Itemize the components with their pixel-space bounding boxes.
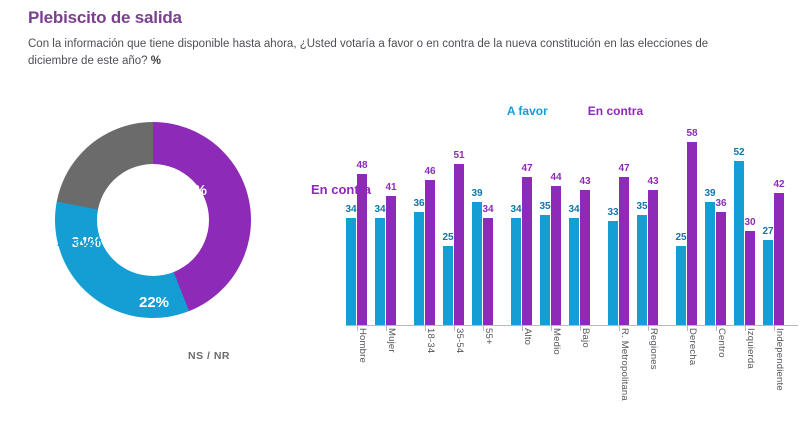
bar-a-favor: 39 (472, 202, 482, 325)
bar-group: 34483441 (346, 136, 397, 325)
bar-a-favor: 52 (734, 161, 744, 325)
bar-value: 34 (510, 204, 521, 215)
bar-a-favor: 35 (637, 215, 647, 325)
bar-value: 34 (374, 204, 385, 215)
bar-a-favor: 33 (608, 221, 618, 325)
x-label-group: R. MetropolitanaRegiones (608, 328, 659, 428)
bar-a-favor: 34 (375, 218, 385, 325)
legend-swatch-en-contra (574, 107, 583, 116)
x-label-group: DerechaCentroIzquierdaIndependiente (676, 328, 785, 428)
bar-a-favor: 25 (443, 246, 453, 325)
bar-value: 47 (521, 163, 532, 174)
bar-category: 3543 (637, 136, 659, 325)
bar-category: 3646 (414, 136, 436, 325)
bar-a-favor: 34 (346, 218, 356, 325)
bar-category: 3447 (511, 136, 533, 325)
bar-value: 34 (568, 204, 579, 215)
bar-value: 27 (762, 226, 773, 237)
bar-category: 3936 (705, 136, 727, 325)
bar-en-contra: 46 (425, 180, 435, 325)
bar-value: 33 (607, 207, 618, 218)
x-axis-labels: HombreMujer18-3435-5455+AltoMedioBajoR. … (346, 328, 798, 428)
bar-a-favor: 25 (676, 246, 686, 325)
bar-value: 25 (675, 232, 686, 243)
bar-value: 41 (385, 182, 396, 193)
x-axis-label: Bajo (569, 328, 591, 428)
bar-value: 35 (539, 201, 550, 212)
bar-value: 39 (704, 188, 715, 199)
bar-value: 48 (356, 160, 367, 171)
bar-group: 364625513934 (414, 136, 494, 325)
bar-value: 39 (471, 188, 482, 199)
bar-value: 43 (579, 176, 590, 187)
bar-en-contra: 44 (551, 186, 561, 325)
x-axis-label: Medio (540, 328, 562, 428)
legend-label-en-contra: En contra (588, 104, 643, 118)
donut-label-ns-nr: NS / NR (188, 350, 230, 362)
bar-chart-plot-area: 3448344136462551393434473544344333473543… (346, 136, 798, 326)
bar-en-contra: 51 (454, 164, 464, 325)
donut-chart: 44% 34% 22% En contra A favor NS / NR (0, 108, 330, 373)
x-axis-label: Independiente (763, 328, 785, 428)
subtitle-unit: % (151, 55, 161, 67)
x-axis-label: Regiones (637, 328, 659, 428)
bar-group: 33473543 (608, 136, 659, 325)
bar-en-contra: 36 (716, 212, 726, 325)
bar-a-favor: 34 (511, 218, 521, 325)
donut-value-en-contra: 44% (177, 182, 207, 199)
x-axis-label: Hombre (346, 328, 368, 428)
bar-a-favor: 34 (569, 218, 579, 325)
bar-en-contra: 47 (522, 177, 532, 325)
legend-item-en-contra: En contra (574, 104, 643, 118)
bar-a-favor: 36 (414, 212, 424, 325)
bar-value: 42 (773, 179, 784, 190)
x-axis-label: Mujer (375, 328, 397, 428)
bar-value: 46 (424, 166, 435, 177)
bar-value: 51 (453, 150, 464, 161)
bar-en-contra: 34 (483, 218, 493, 325)
subtitle-question: Con la información que tiene disponible … (28, 38, 708, 67)
x-label-group: HombreMujer (346, 328, 397, 428)
bar-en-contra: 41 (386, 196, 396, 325)
bar-value: 36 (413, 198, 424, 209)
bar-value: 35 (636, 201, 647, 212)
bar-a-favor: 27 (763, 240, 773, 325)
donut-chart-graphic: 44% 34% 22% En contra A favor NS / NR (55, 122, 251, 318)
bar-group: 2558393652302742 (676, 136, 785, 325)
bar-value: 36 (715, 198, 726, 209)
donut-label-a-favor: A favor (57, 234, 101, 249)
bar-en-contra: 58 (687, 142, 697, 325)
legend-label-a-favor: A favor (507, 104, 548, 118)
bar-value: 34 (345, 204, 356, 215)
x-label-group: 18-3435-5455+ (414, 328, 494, 428)
bar-value: 58 (686, 128, 697, 139)
bar-a-favor: 35 (540, 215, 550, 325)
bar-value: 34 (482, 204, 493, 215)
bar-chart-legend: A favor En contra (336, 100, 800, 122)
bar-en-contra: 43 (648, 190, 658, 325)
bar-en-contra: 43 (580, 190, 590, 325)
bar-en-contra: 30 (745, 231, 755, 326)
x-axis-label: Alto (511, 328, 533, 428)
x-axis-label: Derecha (676, 328, 698, 428)
x-axis-label: Izquierda (734, 328, 756, 428)
x-axis-label: R. Metropolitana (608, 328, 630, 428)
bar-category: 3443 (569, 136, 591, 325)
bar-category: 3934 (472, 136, 494, 325)
bar-value: 52 (733, 147, 744, 158)
bar-chart: A favor En contra 3448344136462551393434… (336, 100, 800, 396)
bar-value: 25 (442, 232, 453, 243)
bar-groups: 3448344136462551393434473544344333473543… (346, 136, 798, 325)
page-subtitle: Con la información que tiene disponible … (28, 36, 748, 69)
donut-hole (97, 164, 209, 276)
bar-a-favor: 39 (705, 202, 715, 325)
x-label-group: AltoMedioBajo (511, 328, 591, 428)
bar-category: 3441 (375, 136, 397, 325)
bar-category: 3347 (608, 136, 630, 325)
legend-item-a-favor: A favor (493, 104, 548, 118)
x-axis-label: Centro (705, 328, 727, 428)
bar-value: 30 (744, 217, 755, 228)
bar-category: 5230 (734, 136, 756, 325)
bar-category: 2558 (676, 136, 698, 325)
bar-value: 47 (618, 163, 629, 174)
x-axis-label: 55+ (472, 328, 494, 428)
bar-category: 2551 (443, 136, 465, 325)
bar-category: 3448 (346, 136, 368, 325)
bar-en-contra: 47 (619, 177, 629, 325)
donut-value-ns-nr: 22% (139, 294, 169, 311)
legend-swatch-a-favor (493, 107, 502, 116)
page-header: Plebiscito de salida Con la información … (28, 8, 772, 70)
x-axis-label: 35-54 (443, 328, 465, 428)
bar-en-contra: 48 (357, 174, 367, 325)
bar-category: 3544 (540, 136, 562, 325)
page-title: Plebiscito de salida (28, 8, 772, 28)
bar-en-contra: 42 (774, 193, 784, 325)
bar-value: 43 (647, 176, 658, 187)
bar-group: 344735443443 (511, 136, 591, 325)
bar-value: 44 (550, 172, 561, 183)
x-axis-label: 18-34 (414, 328, 436, 428)
bar-category: 2742 (763, 136, 785, 325)
